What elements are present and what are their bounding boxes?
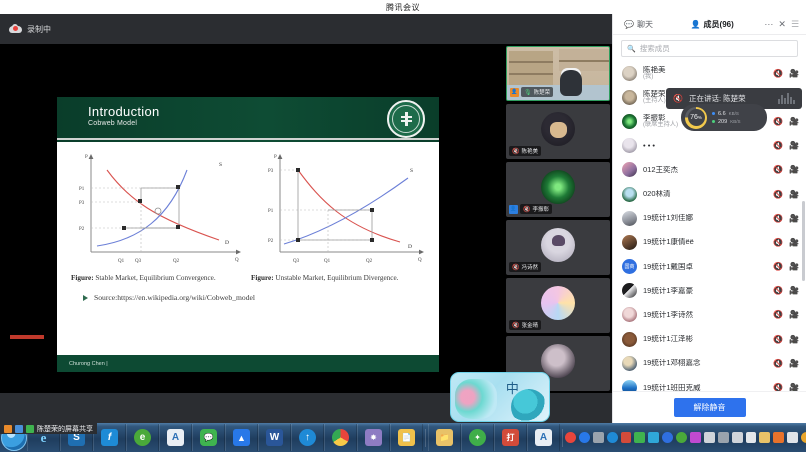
volume-tray-icon[interactable] [746,432,757,443]
mic-muted-icon[interactable]: 🔇 [773,286,783,295]
members-icon: 👤 [691,14,701,35]
avatar [541,112,575,146]
tab-chat-label: 聊天 [637,14,653,35]
slide-footer: Churong Chen | [57,355,439,372]
svg-text:S: S [219,162,222,168]
recording-label: 录制中 [27,24,51,35]
screen-edge-marker [10,335,44,339]
mic-muted-icon: 🔇 [523,206,530,213]
video-tile-participant[interactable]: 👤 🔇 李振彰 [506,162,610,217]
svg-text:P2: P2 [79,227,85,232]
cloud-tray-icon[interactable] [648,432,659,443]
camera-off-icon[interactable]: 🎥 [789,141,799,150]
taskbar-item[interactable]: f [93,424,126,451]
camera-off-icon[interactable]: 🎥 [789,190,799,199]
wechat-tray-icon[interactable] [634,432,645,443]
window-title: 腾讯会议 [386,2,420,13]
tile-badges: 🔇 陈艳美 [509,146,541,156]
video-tile-strip: 👤 🎙 陈楚荣 🔇 陈艳美 [506,46,610,391]
unmute-all-button[interactable]: 解除静音 [674,398,746,417]
svg-text:P3: P3 [268,169,274,174]
search-area: 🔍 搜索成员 [613,35,806,61]
slide-header: Introduction Cobweb Model [57,97,439,142]
svg-text:P: P [85,155,88,160]
svg-text:P1: P1 [79,187,85,192]
avatar [622,356,637,371]
mic-muted-icon: 🔇 [512,264,519,271]
taskbar-item[interactable]: e [126,424,159,451]
svg-text:P2: P2 [268,239,274,244]
user-icon [4,425,12,433]
panel-tab-bar: 💬 聊天 👤 成员(96) ··· ✕ ☰ [613,14,806,35]
tile-name: 冯诗然 [521,263,538,271]
tile-name-chip: 🔇 冯诗然 [509,262,541,272]
cohost-badge-icon: 👤 [509,205,518,214]
taskbar-item[interactable]: ↑ [291,424,324,451]
slide-header-rule [57,138,439,140]
taskbar-item[interactable]: 打 [494,424,527,451]
mic-muted-icon[interactable]: 🔇 [773,335,783,344]
bluetooth-tray-icon[interactable] [579,432,590,443]
svg-text:Q2: Q2 [366,259,373,264]
caption-left-label: Figure: [71,274,94,282]
w-tray-icon[interactable] [621,432,632,443]
taskbar-item[interactable]: ✸ [357,424,390,451]
svg-text:Q: Q [235,258,239,263]
presentation-slide: Introduction Cobweb Model [57,97,439,372]
tile-name-chip: 🔇 张金晴 [509,320,541,330]
list-item[interactable]: 19统计1江泽彬 🔇 🎥 [613,327,806,351]
svg-text:D: D [408,244,412,250]
svg-text:P3: P3 [79,201,85,206]
ime-character-art [511,389,547,422]
upload-unit: KB/S [729,111,739,116]
mic-muted-icon[interactable]: 🔇 [773,165,783,174]
host-badge-icon: 👤 [510,88,519,97]
slide-body: P Q [57,142,439,355]
chat-icon: 💬 [624,14,634,35]
source-text: Source:https://en.wikipedia.org/wiki/Cob… [94,293,255,302]
chart-stable-market: P Q [69,148,244,270]
recording-status-bar: 录制中 [0,14,612,44]
participant-list-scrollbar[interactable] [802,201,805,281]
video-tile-participant[interactable]: 🔇 张金晴 [506,278,610,333]
list-item[interactable]: 19统计1李诗然 🔇 🎥 [613,303,806,327]
upload-rate: 6.6 KB/S [712,111,740,117]
avatar [541,286,575,320]
camera-off-icon[interactable]: 🎥 [789,359,799,368]
mic-muted-icon[interactable]: 🔇 [773,310,783,319]
list-item[interactable]: • • • 🔇 🎥 [613,134,806,158]
camera-off-icon[interactable]: 🎥 [789,310,799,319]
video-tile-participant[interactable]: 🔇 陈艳美 [506,104,610,159]
svg-text:P: P [274,155,277,160]
cloud-record-icon [9,24,22,34]
participant-name: • • • [643,142,767,150]
taskbar-item[interactable]: ▲ [225,424,258,451]
participant-name: 19统计1戴国卓 [643,263,767,271]
mic-muted-icon[interactable]: 🔇 [773,190,783,199]
tab-members-label: 成员(96) [704,14,734,35]
tile-badges: 👤 🎙 陈楚荣 [510,87,553,97]
taskbar-item[interactable] [324,424,357,451]
right-side-panel: 💬 聊天 👤 成员(96) ··· ✕ ☰ 🔍 搜索成员 [612,14,806,423]
cpu-percent-unit: % [698,115,702,120]
mic-muted-icon[interactable]: 🔇 [773,262,783,271]
list-item[interactable]: 陈艳美 (我) 🔇 🎥 [613,61,806,85]
svg-text:Q2: Q2 [173,259,180,264]
svg-text:Q3: Q3 [293,259,300,264]
performance-hud: 76% 6.6 KB/S 209 KB/S [681,104,767,131]
search-input[interactable]: 🔍 搜索成员 [621,40,798,57]
clock-tray-icon[interactable] [676,432,687,443]
audio-waveform-icon [778,93,795,104]
participant-name: 19统计1刘佳娜 [643,214,767,222]
monitor-icon [15,425,23,433]
tile-name: 李振彰 [532,205,549,213]
mic-muted-icon: 🔇 [512,322,519,329]
caption-left-text: Stable Market, Equilibrium Convergence. [94,274,216,282]
flag-tray-icon[interactable] [787,432,798,443]
caption-right-label: Figure: [251,274,274,282]
taskbar-item[interactable]: W [258,424,291,451]
battery-tray-icon[interactable] [732,432,743,443]
camera-off-icon[interactable]: 🎥 [789,286,799,295]
tile-name-chip: 🔇 陈艳美 [509,146,541,156]
list-item[interactable]: 19统计1康倩ёё 🔇 🎥 [613,230,806,254]
windows-taskbar: e S f e A 💬 ▲ W ↑ ✸ 📄 📁 ✦ 打 A [0,423,806,452]
edit-tray-icon[interactable] [662,432,673,443]
tile-name-chip: 🎙 陈楚荣 [521,87,553,97]
university-seal-logo [387,100,425,138]
participant-name: 19统计1李诗然 [643,311,767,319]
lock-tray-icon[interactable] [759,432,770,443]
caption-right: Figure: Unstable Market, Equilibrium Div… [251,273,423,283]
avatar [622,90,637,105]
mic-muted-icon[interactable]: 🔇 [773,117,783,126]
search-placeholder: 搜索成员 [640,43,670,54]
tile-name-chip: 🔇 李振彰 [520,204,552,214]
svg-text:Q1: Q1 [118,259,125,264]
mic-muted-icon: 🔇 [673,94,683,103]
download-icon [26,425,34,433]
tile-name: 陈楚荣 [534,88,551,96]
taskbar-item[interactable]: 📄 [390,424,423,451]
arrow-tray-icon[interactable] [718,432,729,443]
video-tile-participant[interactable]: 🔇 冯诗然 [506,220,610,275]
svg-text:Q: Q [418,258,422,263]
avatar [622,162,637,177]
orange-tray-icon[interactable] [773,432,784,443]
screen-root: 腾讯会议 录制中 Introduction Cobweb Model [0,0,806,452]
svg-text:P1: P1 [268,209,274,214]
svg-text:Q1: Q1 [324,259,331,264]
participant-name: 19统计1李嘉豪 [643,287,767,295]
mic-muted-icon[interactable]: 🔇 [773,359,783,368]
source-line: Source:https://en.wikipedia.org/wiki/Cob… [83,293,439,302]
camera-off-icon[interactable]: 🎥 [789,69,799,78]
tab-members[interactable]: 👤 成员(96) [684,14,741,35]
update-tray-icon[interactable] [801,432,806,443]
camera-off-icon[interactable]: 🎥 [789,165,799,174]
camera-off-icon[interactable]: 🎥 [789,238,799,247]
bullet-triangle-icon [83,295,88,301]
tile-badges: 🔇 冯诗然 [509,262,541,272]
avatar [622,187,637,202]
speaking-label: 正在讲话: 陈楚荣 [689,93,746,104]
avatar [622,307,637,322]
tile-badges: 🔇 张金晴 [509,320,541,330]
share-status-label: 陈楚荣的屏幕共享 [37,424,93,434]
taskbar-item[interactable]: 💬 [192,424,225,451]
avatar [541,228,575,262]
chart-unstable-market: P Q [252,148,427,270]
participant-name: 012王奕杰 [643,166,767,174]
slide-footer-text: Churong Chen | [69,361,108,367]
menu-icon[interactable]: ☰ [791,19,799,30]
taskbar-item[interactable]: A [159,424,192,451]
screen-share-status-bar[interactable]: 陈楚荣的屏幕共享 [0,423,97,434]
avatar [622,283,637,298]
list-item[interactable]: 19统计1刘佳娜 🔇 🎥 [613,206,806,230]
n-tray-icon[interactable] [690,432,701,443]
shield-tray-icon[interactable] [607,432,618,443]
participant-name: 020林清 [643,190,767,198]
upload-value: 6.6 [718,111,726,117]
meeting-main-area: 录制中 Introduction Cobweb Model [0,14,612,423]
avatar [622,66,637,81]
taskbar-item[interactable]: ✦ [461,424,494,451]
mic-muted-icon[interactable]: 🔇 [773,238,783,247]
download-rate: 209 KB/S [712,119,740,125]
caption-left: Figure: Stable Market, Equilibrium Conve… [71,273,243,283]
avatar [622,114,637,129]
tile-name: 陈艳美 [521,147,538,155]
participant-role: (我) [643,74,767,81]
avatar [622,332,637,347]
ime-floating-widget[interactable]: 中 [450,372,550,422]
list-item[interactable]: 19统计1李嘉豪 🔇 🎥 [613,279,806,303]
list-item[interactable]: 012王奕杰 🔇 🎥 [613,158,806,182]
mic-muted-icon: 🔇 [512,148,519,155]
avatar [622,138,637,153]
search-icon: 🔍 [627,45,636,53]
mic-muted-icon[interactable]: 🔇 [773,214,783,223]
participant-name: 19统计1邓栩嘉念 [643,359,767,367]
more-icon[interactable]: ··· [764,19,773,29]
panel-footer: 解除静音 [613,391,806,423]
participant-name: 19统计1江泽彬 [643,335,767,343]
cpu-percent-value: 76 [690,114,698,121]
video-tile-host[interactable]: 👤 🎙 陈楚荣 [506,46,610,101]
camera-off-icon[interactable]: 🎥 [789,117,799,126]
svg-text:S: S [410,168,413,174]
tile-name: 张金晴 [521,321,538,329]
taskbar-item[interactable]: 📁 [428,424,461,451]
avatar [541,170,575,204]
avatar [622,211,637,226]
mic-muted-icon[interactable]: 🔇 [773,69,783,78]
tile-badges: 👤 🔇 李振彰 [509,204,552,214]
list-item[interactable]: 国商 19统计1戴国卓 🔇 🎥 [613,255,806,279]
figure-captions: Figure: Stable Market, Equilibrium Conve… [57,270,439,283]
avatar [622,235,637,250]
mic-muted-icon[interactable]: 🔇 [773,141,783,150]
sogou-tray-icon[interactable] [565,432,576,443]
svg-text:Q3: Q3 [135,259,142,264]
list-item[interactable]: 020林清 🔇 🎥 [613,182,806,206]
download-value: 209 [718,119,727,125]
participant-name: 陈艳美 [643,66,767,74]
mic-on-icon: 🎙 [524,89,532,96]
taskbar-item[interactable]: A [527,424,560,451]
avatar: 国商 [622,259,637,274]
tab-chat[interactable]: 💬 聊天 [617,14,660,35]
cpu-usage-ring: 76% [685,107,707,129]
caption-right-text: Unstable Market, Equilibrium Divergence. [274,274,399,282]
camera-off-icon[interactable]: 🎥 [789,214,799,223]
list-item[interactable]: 19统计1邓栩嘉念 🔇 🎥 [613,351,806,375]
download-unit: KB/S [730,119,740,124]
dots-tray-icon[interactable] [593,432,604,443]
system-tray: 15:05 周一 2022/4/18 [565,423,806,451]
participant-name: 19统计1康倩ёё [643,238,767,246]
window-title-bar: 腾讯会议 [0,0,806,14]
cobweb-charts: P Q [57,142,439,270]
close-icon[interactable]: ✕ [778,19,786,30]
svg-text:D: D [225,240,229,246]
camera-off-icon[interactable]: 🎥 [789,335,799,344]
ime-skin-art [455,379,497,419]
monitor-tray-icon[interactable] [704,432,715,443]
camera-off-icon[interactable]: 🎥 [789,262,799,271]
